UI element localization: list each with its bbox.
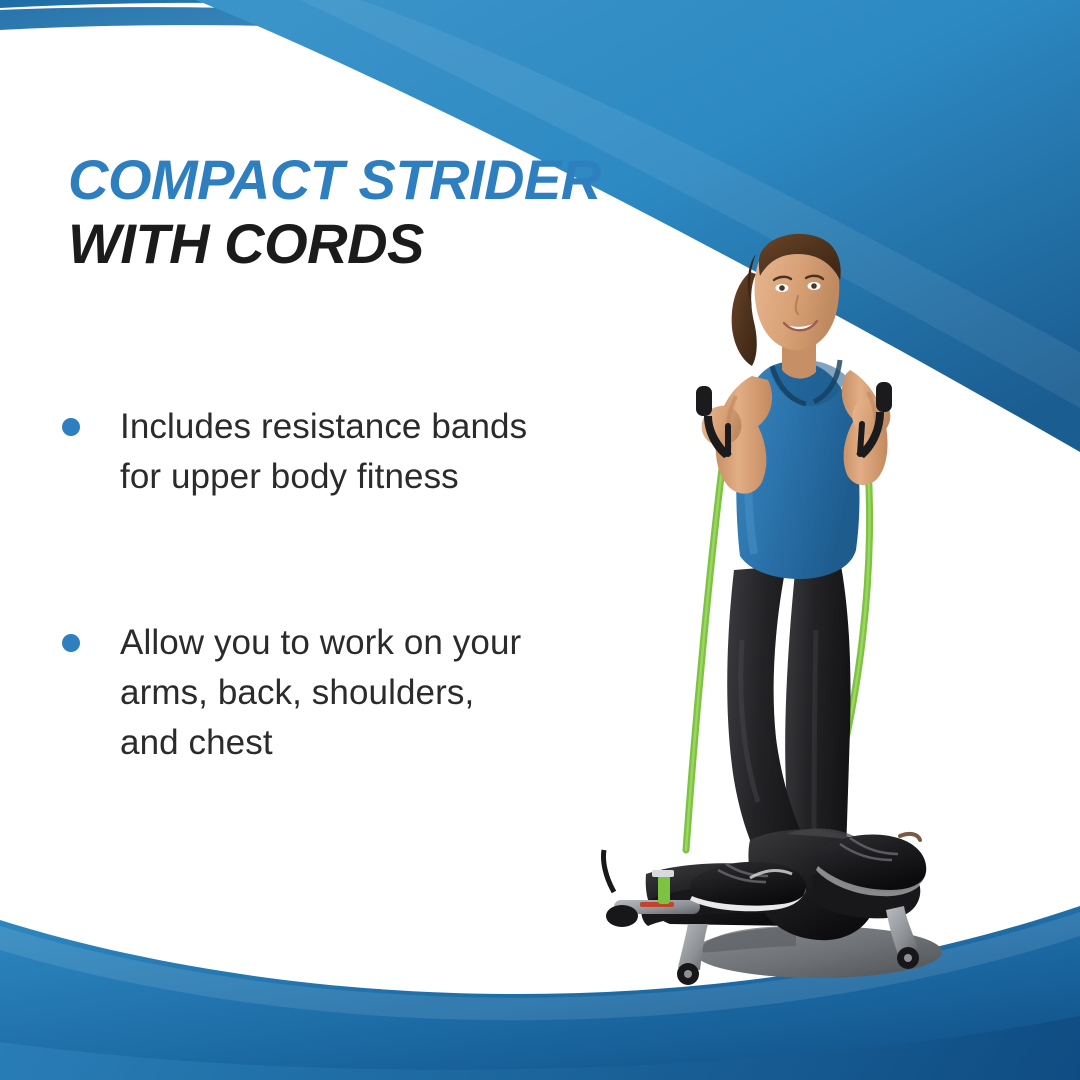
- head: [732, 234, 841, 379]
- headline-line-1: COMPACT STRIDER: [68, 148, 748, 212]
- bullet-text: Includes resistance bands for upper body…: [120, 402, 532, 502]
- list-item: Includes resistance bands for upper body…: [62, 402, 532, 502]
- resistance-cord-left: [686, 422, 728, 850]
- list-item: Allow you to work on your arms, back, sh…: [62, 618, 532, 768]
- feature-bullet-list: Includes resistance bands for upper body…: [62, 402, 532, 768]
- swoosh-top-thin-tail: [0, 7, 1080, 104]
- product-photo: [600, 210, 1020, 1000]
- woman-with-strider-illustration: [600, 210, 1020, 1000]
- bullet-text: Allow you to work on your arms, back, sh…: [120, 618, 532, 768]
- bullet-dot-icon: [62, 418, 80, 436]
- swoosh-top-thin: [0, 0, 1080, 78]
- product-feature-card: COMPACT STRIDER WITH CORDS Includes resi…: [0, 0, 1080, 1080]
- bullet-dot-icon: [62, 634, 80, 652]
- swoosh-bottom-edge: [0, 1016, 1080, 1080]
